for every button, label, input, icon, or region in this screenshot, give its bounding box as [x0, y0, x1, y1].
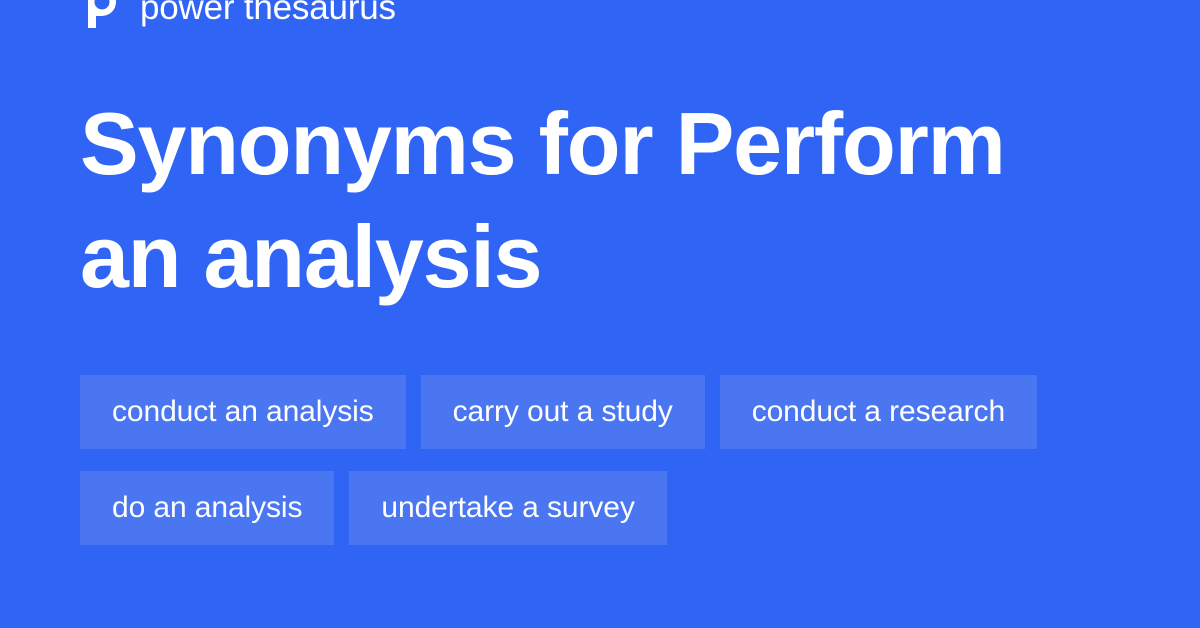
power-thesaurus-p-logo-icon — [80, 0, 124, 30]
brand-name: power thesaurus — [140, 0, 396, 30]
synonym-chip[interactable]: conduct a research — [720, 375, 1037, 449]
brand-header[interactable]: power thesaurus — [80, 0, 396, 34]
synonym-chip[interactable]: do an analysis — [80, 471, 334, 545]
synonym-chip[interactable]: carry out a study — [421, 375, 705, 449]
synonym-chip[interactable]: undertake a survey — [349, 471, 666, 545]
synonym-chip[interactable]: conduct an analysis — [80, 375, 406, 449]
page-title: Synonyms for Perform an analysis — [80, 88, 1090, 313]
synonym-list: conduct an analysis carry out a study co… — [80, 375, 1120, 545]
